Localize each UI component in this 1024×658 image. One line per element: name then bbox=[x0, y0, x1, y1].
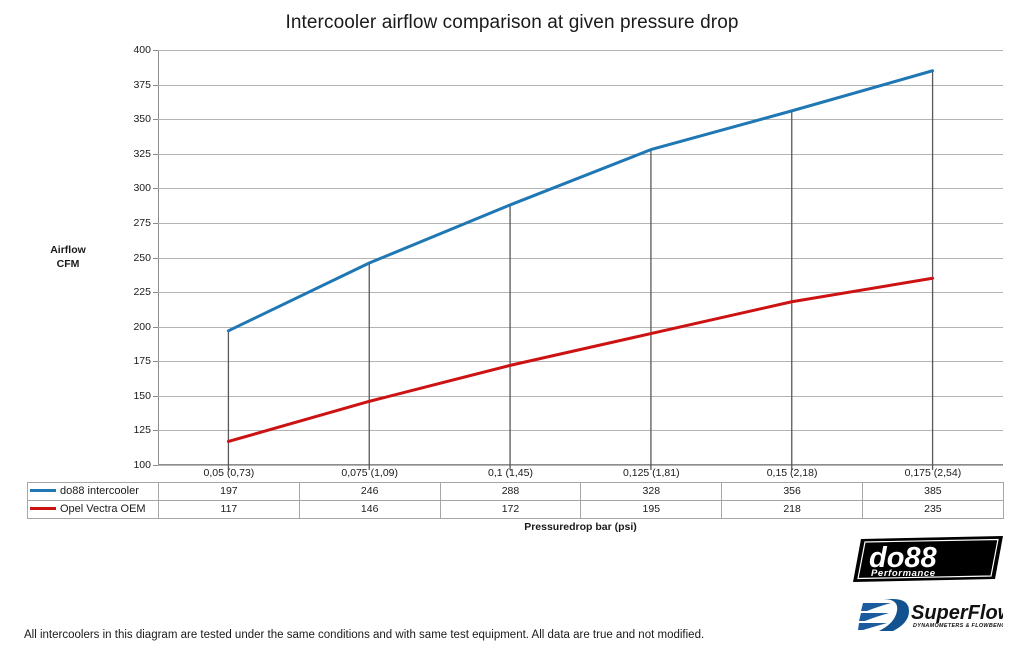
table-cell-value: 117 bbox=[159, 501, 300, 519]
table-cell-value: 385 bbox=[862, 483, 1003, 501]
table-row-categories: 0,05 (0,73)0,075 (1,09)0,1 (1,45)0,125 (… bbox=[28, 465, 1004, 483]
legend-swatch-icon bbox=[30, 489, 56, 492]
superflow-logo-icon: SuperFlow DYNAMOMETERS & FLOWBENCHES bbox=[853, 593, 1003, 637]
y-axis-title-line2: CFM bbox=[16, 257, 120, 271]
x-tick-label: 0,175 (2,54) bbox=[862, 465, 1003, 483]
legend-label: do88 intercooler bbox=[60, 485, 139, 497]
y-tick-label: 350 bbox=[133, 113, 151, 125]
table-corner-cell bbox=[28, 465, 159, 483]
table-row: do88 intercooler197246288328356385 bbox=[28, 483, 1004, 501]
table-cell-value: 195 bbox=[581, 501, 722, 519]
do88-logo-tagline: Performance bbox=[871, 568, 936, 579]
y-tick-label: 225 bbox=[133, 286, 151, 298]
y-axis-title: Airflow CFM bbox=[16, 243, 120, 271]
table-row: Opel Vectra OEM117146172195218235 bbox=[28, 501, 1004, 519]
y-tick-label: 125 bbox=[133, 424, 151, 436]
table-cell-value: 235 bbox=[862, 501, 1003, 519]
x-tick-label: 0,05 (0,73) bbox=[159, 465, 300, 483]
series-line-1 bbox=[228, 278, 932, 441]
x-tick-label: 0,1 (1,45) bbox=[440, 465, 581, 483]
chart-title: Intercooler airflow comparison at given … bbox=[0, 12, 1024, 34]
do88-logo: do88 Performance bbox=[853, 534, 1003, 584]
table-cell-value: 197 bbox=[159, 483, 300, 501]
do88-logo-icon: do88 Performance bbox=[853, 534, 1003, 584]
table-cell-value: 288 bbox=[440, 483, 581, 501]
superflow-logo-text: SuperFlow bbox=[911, 602, 1003, 624]
y-tick-label: 150 bbox=[133, 390, 151, 402]
y-tick-label: 400 bbox=[133, 44, 151, 56]
plot-area: 400375350325300275250225200175150125100 bbox=[158, 50, 1003, 465]
y-tick-label: 375 bbox=[133, 79, 151, 91]
table-cell-value: 146 bbox=[299, 501, 440, 519]
y-tick-label: 300 bbox=[133, 182, 151, 194]
table-cell-value: 218 bbox=[722, 501, 863, 519]
data-table: 0,05 (0,73)0,075 (1,09)0,1 (1,45)0,125 (… bbox=[27, 465, 1004, 519]
legend-swatch-icon bbox=[30, 507, 56, 510]
table-cell-value: 356 bbox=[722, 483, 863, 501]
superflow-swoosh-icon bbox=[858, 599, 909, 631]
x-tick-label: 0,075 (1,09) bbox=[299, 465, 440, 483]
series-line-0 bbox=[228, 71, 932, 331]
legend-label: Opel Vectra OEM bbox=[60, 503, 146, 515]
y-tick-label: 200 bbox=[133, 321, 151, 333]
x-tick-label: 0,15 (2,18) bbox=[722, 465, 863, 483]
table-cell-value: 328 bbox=[581, 483, 722, 501]
superflow-logo-tagline: DYNAMOMETERS & FLOWBENCHES bbox=[913, 623, 1003, 629]
y-tick-label: 275 bbox=[133, 217, 151, 229]
table-cell-value: 172 bbox=[440, 501, 581, 519]
y-tick-label: 250 bbox=[133, 252, 151, 264]
superflow-logo: SuperFlow DYNAMOMETERS & FLOWBENCHES bbox=[853, 593, 1003, 637]
table-cell-value: 246 bbox=[299, 483, 440, 501]
x-axis-title: Pressuredrop bar (psi) bbox=[158, 521, 1003, 533]
y-tick-label: 175 bbox=[133, 355, 151, 367]
y-axis-title-line1: Airflow bbox=[16, 243, 120, 257]
x-tick-label: 0,125 (1,81) bbox=[581, 465, 722, 483]
footer-note: All intercoolers in this diagram are tes… bbox=[24, 629, 704, 641]
legend-item-1[interactable]: Opel Vectra OEM bbox=[28, 501, 159, 519]
series-lines bbox=[158, 50, 1003, 465]
legend-item-0[interactable]: do88 intercooler bbox=[28, 483, 159, 501]
y-tick-label: 325 bbox=[133, 148, 151, 160]
